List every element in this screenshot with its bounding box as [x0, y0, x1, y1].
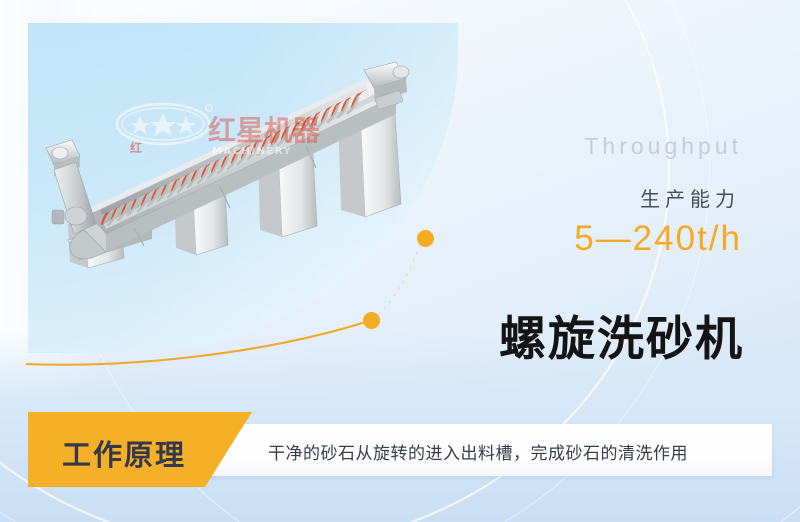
banner-tab-label: 工作原理	[62, 432, 186, 474]
decorative-dot-upper	[417, 230, 434, 247]
throughput-english-label: Throughput	[584, 133, 742, 160]
throughput-chinese-label: 生产能力	[640, 183, 740, 212]
discharge-end	[46, 140, 96, 234]
product-title: 螺旋洗砂机	[499, 300, 744, 369]
working-principle-banner: 工作原理 干净的砂石从旋转的进入出料槽，完成砂石的清洗作用	[28, 412, 772, 487]
banner-description-text: 干净的砂石从旋转的进入出料槽，完成砂石的清洗作用	[268, 439, 688, 464]
decorative-dot-lower	[363, 312, 380, 329]
promo-banner-stage: 红 红星机器 MACHINERY Throughput 生产能力 5—240t/…	[0, 0, 800, 522]
spiral-sand-washer-image	[24, 52, 424, 282]
throughput-value: 5—240t/h	[574, 219, 742, 259]
